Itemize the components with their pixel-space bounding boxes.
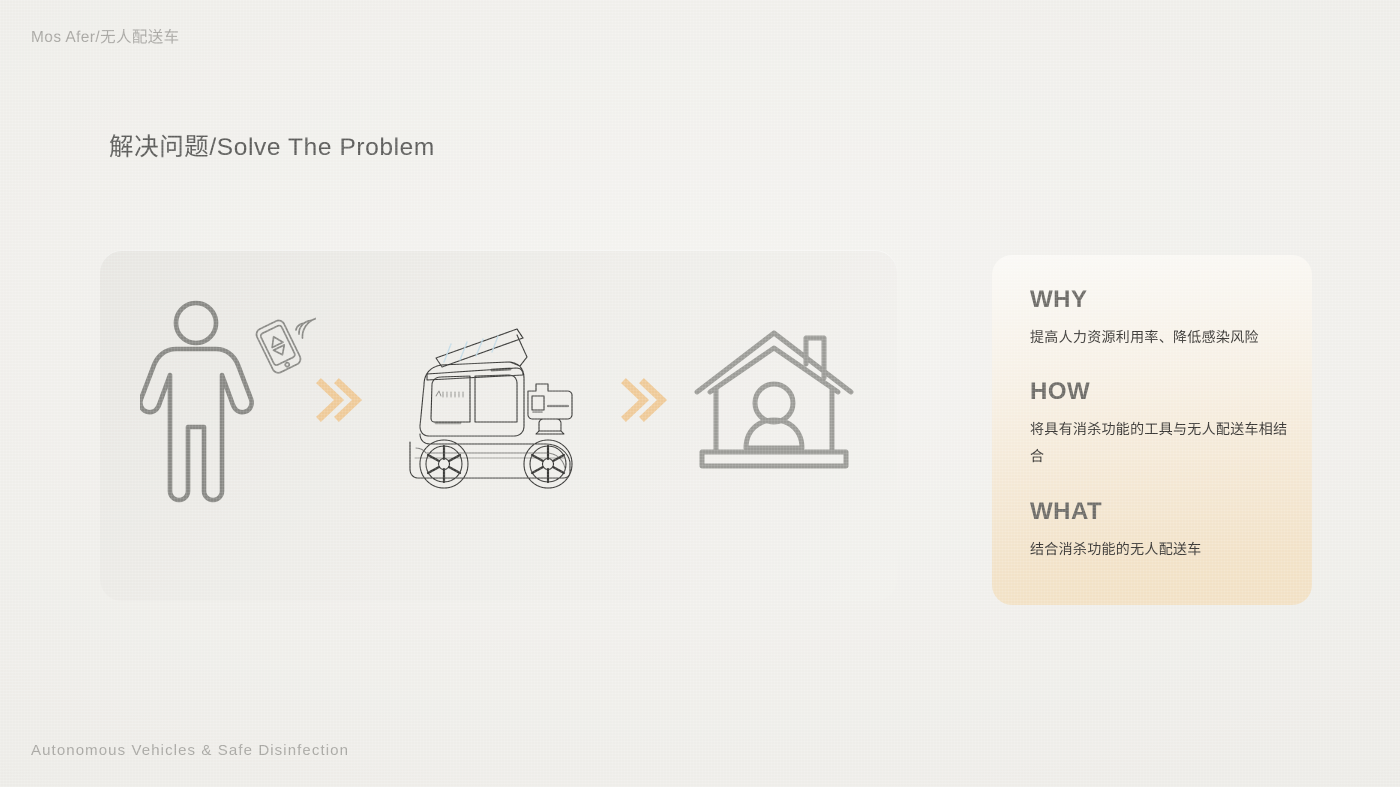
page-title: 解决问题/Solve The Problem	[109, 128, 435, 163]
phone-signal-icon	[246, 312, 316, 378]
double-chevron-right-icon	[315, 377, 363, 423]
stage-home-recipient	[694, 330, 854, 475]
disinfection-spray-lines	[444, 336, 498, 362]
chevron-arrow-1	[315, 377, 363, 428]
autonomous-delivery-vehicle-icon	[396, 322, 596, 492]
slide-canvas: Mos Afer/无人配送车 解决问题/Solve The Problem	[0, 0, 1400, 787]
stage-delivery-robot	[396, 322, 596, 492]
info-body-what: 结合消杀功能的无人配送车	[1030, 536, 1292, 563]
info-heading-how: HOW	[1030, 380, 1292, 404]
info-block-why: WHY 提高人力资源利用率、降低感染风险	[1030, 288, 1292, 351]
info-panel: WHY 提高人力资源利用率、降低感染风险 HOW 将具有消杀功能的工具与无人配送…	[992, 255, 1312, 605]
info-block-what: WHAT 结合消杀功能的无人配送车	[1030, 500, 1292, 563]
header-project-label: Mos Afer/无人配送车	[31, 25, 180, 47]
double-chevron-right-icon	[620, 377, 668, 423]
chevron-arrow-2	[620, 377, 668, 428]
info-body-how: 将具有消杀功能的工具与无人配送车相结合	[1030, 416, 1292, 470]
info-block-how: HOW 将具有消杀功能的工具与无人配送车相结合	[1030, 380, 1292, 470]
info-heading-what: WHAT	[1030, 500, 1292, 524]
info-heading-why: WHY	[1030, 288, 1292, 312]
house-with-person-icon	[694, 330, 854, 475]
info-body-why: 提高人力资源利用率、降低感染风险	[1030, 324, 1292, 351]
footer-tagline: Autonomous Vehicles & Safe Disinfection	[31, 742, 349, 759]
remote-control-phone-icon	[246, 312, 316, 378]
